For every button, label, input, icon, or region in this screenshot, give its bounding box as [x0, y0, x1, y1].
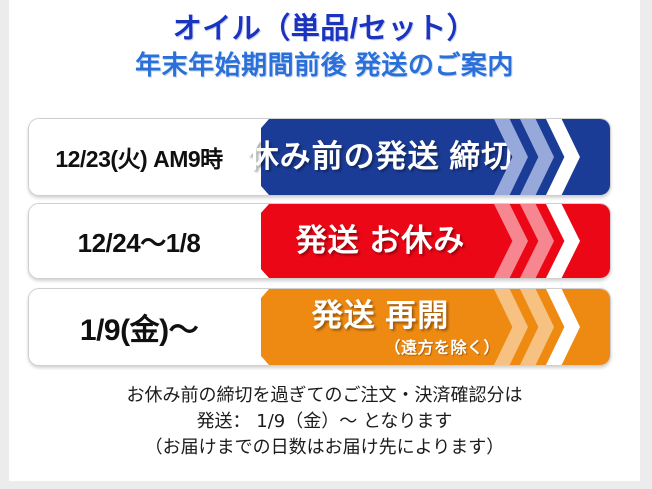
footer-note-line-1: お休み前の締切を過ぎてのご注文・決済確認分は: [9, 383, 640, 409]
chevron-right-icon: [494, 119, 528, 195]
footer-note: お休み前の締切を過ぎてのご注文・決済確認分は 発送： 1/9（金）〜 となります…: [9, 383, 640, 461]
chevron-arrows-group: [494, 204, 598, 278]
schedule-row-inner: 12/23(火) AM9時 休み前の発送 締切: [29, 119, 610, 195]
schedule-row-date: 12/23(火) AM9時: [55, 140, 222, 174]
chevron-right-icon: [494, 204, 528, 278]
schedule-row-date-cell: 12/24〜1/8: [29, 204, 261, 278]
schedule-row-label: 発送 再開: [312, 298, 450, 334]
schedule-row-label-cell: 発送 再開 （遠方を除く）: [269, 289, 492, 365]
schedule-row-label-cell: 休み前の発送 締切: [269, 119, 492, 195]
announcement-page: オイル（単品/セット） 年末年始期間前後 発送のご案内 12/23(火) AM9…: [9, 0, 640, 481]
schedule-row-date: 12/24〜1/8: [78, 223, 201, 260]
schedule-row-inner: 1/9(金)〜 発送 再開 （遠方を除く）: [29, 289, 610, 365]
page-title-line-1: オイル（単品/セット）: [9, 10, 640, 48]
schedule-row-sublabel: （遠方を除く）: [384, 334, 500, 358]
schedule-row-date-cell: 12/23(火) AM9時: [29, 119, 261, 195]
schedule-row-closed: 12/24〜1/8 発送 お休み: [28, 203, 611, 279]
schedule-row-resume: 1/9(金)〜 発送 再開 （遠方を除く）: [28, 288, 611, 366]
chevron-arrows-group: [494, 119, 598, 195]
page-title: オイル（単品/セット） 年末年始期間前後 発送のご案内: [9, 10, 640, 82]
schedule-row-deadline: 12/23(火) AM9時 休み前の発送 締切: [28, 118, 611, 196]
footer-note-line-2: 発送： 1/9（金）〜 となります: [9, 409, 640, 435]
schedule-row-label-cell: 発送 お休み: [269, 204, 492, 278]
schedule-row-date: 1/9(金)〜: [80, 305, 198, 349]
chevron-right-icon: [494, 289, 528, 365]
schedule-row-date-cell: 1/9(金)〜: [29, 289, 261, 365]
schedule-row-inner: 12/24〜1/8 発送 お休み: [29, 204, 610, 278]
schedule-row-label: 休み前の発送 締切: [248, 139, 514, 175]
schedule-row-label: 発送 お休み: [296, 223, 466, 259]
chevron-arrows-group: [494, 289, 598, 365]
footer-note-line-3: （お届けまでの日数はお届け先によります）: [9, 435, 640, 461]
page-title-line-2: 年末年始期間前後 発送のご案内: [9, 48, 640, 82]
